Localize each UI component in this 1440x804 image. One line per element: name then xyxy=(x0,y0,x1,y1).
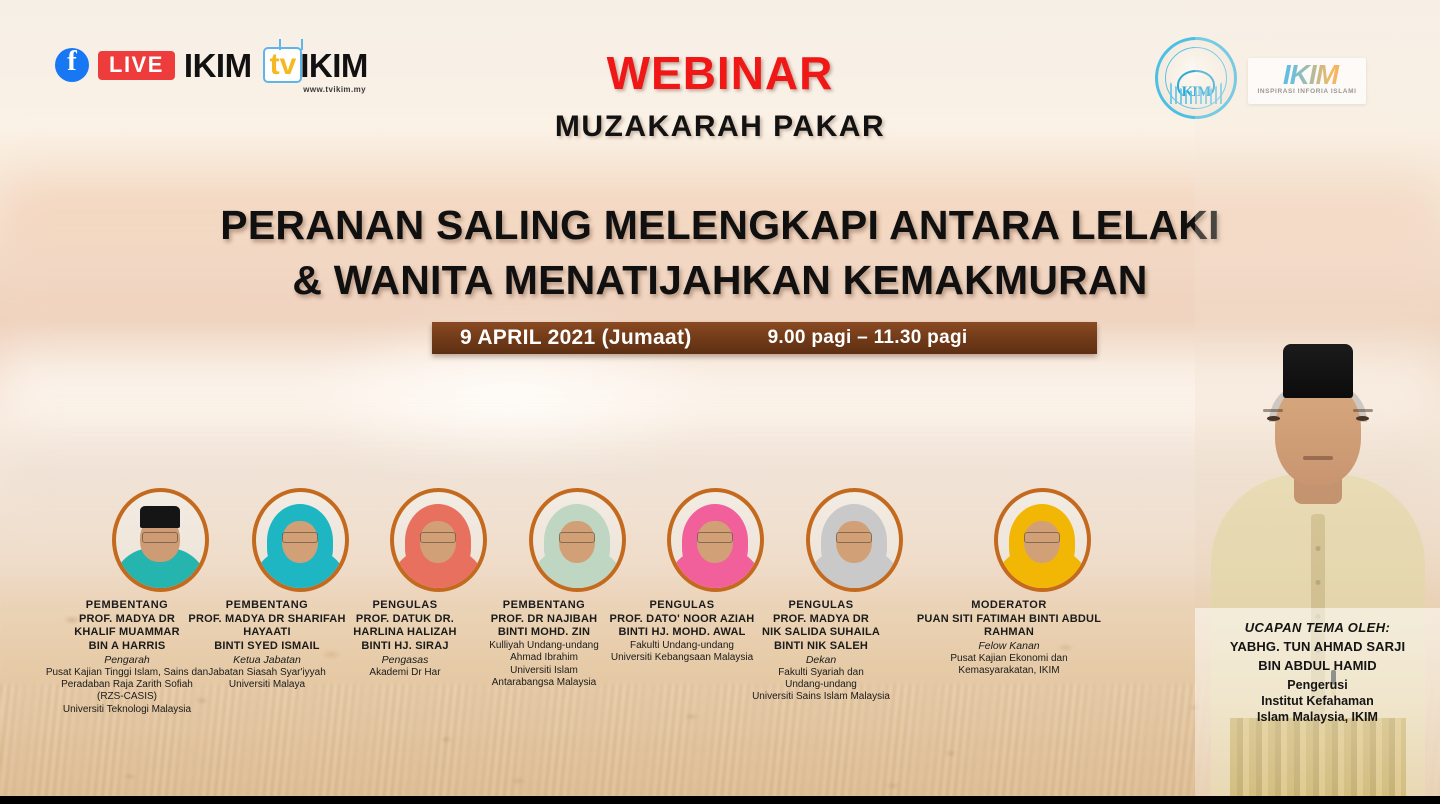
speaker-portrait xyxy=(252,488,349,592)
speaker-caption: MODERATORPUAN SITI FATIMAH BINTI ABDULRA… xyxy=(894,599,1124,678)
speaker-org: Kemasyarakatan, IKIM xyxy=(894,665,1124,677)
glasses-icon xyxy=(836,532,872,543)
speaker-org: Universiti Islam xyxy=(429,665,659,677)
glasses-icon xyxy=(1024,532,1060,543)
keynote-eye xyxy=(1356,416,1369,421)
keynote-brow xyxy=(1353,409,1373,412)
keynote-name-line-1: YABHG. TUN AHMAD SARJI xyxy=(1203,639,1432,656)
schedule-bar: 9 APRIL 2021 (Jumaat) 9.00 pagi – 11.30 … xyxy=(432,322,1097,354)
speaker-org: Undang-undang xyxy=(706,679,936,691)
speaker-portrait xyxy=(994,488,1091,592)
keynote-caption: UCAPAN TEMA OLEH: YABHG. TUN AHMAD SARJI… xyxy=(1195,620,1440,725)
speaker-role: MODERATOR xyxy=(894,599,1124,613)
speakers-row: PEMBENTANGPROF. MADYA DRKHALIF MUAMMARBI… xyxy=(0,488,1180,728)
speaker-card: MODERATORPUAN SITI FATIMAH BINTI ABDULRA… xyxy=(960,488,1124,678)
glasses-icon xyxy=(282,532,318,543)
keynote-label: UCAPAN TEMA OLEH: xyxy=(1203,620,1432,637)
keynote-eye xyxy=(1267,416,1280,421)
keynote-button xyxy=(1315,580,1320,585)
speaker-name: PUAN SITI FATIMAH BINTI ABDUL xyxy=(894,613,1124,627)
glasses-icon xyxy=(142,532,178,543)
songkok-icon xyxy=(140,506,180,528)
keynote-brow xyxy=(1263,409,1283,412)
glasses-icon xyxy=(559,532,595,543)
keynote-org-line-2: Islam Malaysia, IKIM xyxy=(1203,709,1432,725)
speaker-org: Universiti Teknologi Malaysia xyxy=(12,704,242,716)
speaker-org: Universiti Sains Islam Malaysia xyxy=(706,691,936,703)
speaker-name: RAHMAN xyxy=(894,626,1124,640)
speaker-portrait xyxy=(112,488,209,592)
event-time: 9.00 pagi – 11.30 pagi xyxy=(768,327,968,349)
webinar-poster: LIVE IKIM tv IKIM www.tvikim.my WEBINAR … xyxy=(0,0,1440,804)
keynote-panel: UCAPAN TEMA OLEH: YABHG. TUN AHMAD SARJI… xyxy=(1195,0,1440,804)
title-line-1: PERANAN SALING MELENGKAPI ANTARA LELAKI xyxy=(220,202,1219,248)
speaker-org: Universiti Malaya xyxy=(152,679,382,691)
keynote-org-line-1: Institut Kefahaman xyxy=(1203,693,1432,709)
speaker-portrait xyxy=(390,488,487,592)
speaker-portrait xyxy=(529,488,626,592)
glasses-icon xyxy=(697,532,733,543)
bottom-bar xyxy=(0,796,1440,804)
speaker-portrait xyxy=(806,488,903,592)
glasses-icon xyxy=(420,532,456,543)
speaker-org: Pusat Kajian Ekonomi dan xyxy=(894,653,1124,665)
event-date: 9 APRIL 2021 (Jumaat) xyxy=(460,326,692,350)
speaker-org: (RZS-CASIS) xyxy=(12,691,242,703)
keynote-mouth xyxy=(1303,456,1333,460)
keynote-position: Pengerusi xyxy=(1203,677,1432,693)
speaker-position: Felow Kanan xyxy=(894,640,1124,653)
keynote-songkok xyxy=(1283,344,1353,398)
keynote-name-line-2: BIN ABDUL HAMID xyxy=(1203,658,1432,675)
speaker-org: Antarabangsa Malaysia xyxy=(429,677,659,689)
keynote-button xyxy=(1315,546,1320,551)
speaker-portrait xyxy=(667,488,764,592)
